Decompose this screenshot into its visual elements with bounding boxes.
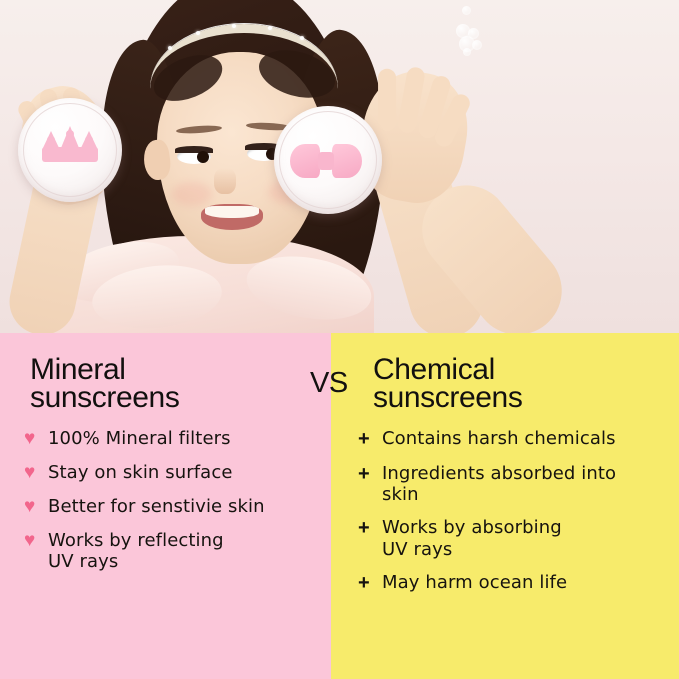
product-photo (0, 0, 679, 334)
sunscreen-comparison-infographic: Mineral sunscreens ♥ 100% Mineral filter… (0, 0, 679, 679)
heart-icon: ♥ (24, 462, 48, 484)
nose (214, 168, 236, 194)
teeth (205, 206, 259, 218)
sparkle-icon (268, 26, 272, 30)
list-item: + Ingredients absorbed into skin (358, 463, 676, 505)
plus-icon: + (358, 517, 382, 540)
crown-jewel (66, 130, 74, 138)
heart-icon: ♥ (24, 496, 48, 518)
pupil-left (197, 151, 209, 163)
list-item: + May harm ocean life (358, 572, 676, 595)
list-item: ♥ Works by reflecting UV rays (24, 530, 329, 572)
crown-icon (42, 128, 98, 162)
sparkle-icon (196, 31, 200, 35)
crown-jewel (85, 136, 93, 144)
bow-compact (274, 106, 382, 214)
bubble-icon (472, 40, 482, 50)
list-item: + Contains harsh chemicals (358, 428, 676, 451)
sparkle-icon (232, 24, 236, 28)
list-item: ♥ Better for senstivie skin (24, 496, 329, 518)
list-item: ♥ 100% Mineral filters (24, 428, 329, 450)
heart-icon: ♥ (24, 530, 48, 552)
bullet-text: Contains harsh chemicals (382, 428, 616, 449)
bullet-text: Works by reflecting UV rays (48, 530, 224, 572)
plus-icon: + (358, 572, 382, 595)
panel-mineral: Mineral sunscreens ♥ 100% Mineral filter… (0, 333, 331, 679)
bullet-text: Ingredients absorbed into skin (382, 463, 616, 505)
plus-icon: + (358, 428, 382, 451)
sparkle-icon (168, 46, 172, 50)
list-item: ♥ Stay on skin surface (24, 462, 329, 484)
crown-jewel (47, 136, 55, 144)
bullet-text: May harm ocean life (382, 572, 567, 593)
mouth (201, 204, 263, 230)
bow-wing-left (290, 144, 320, 178)
bubble-icon (462, 6, 471, 15)
panel-title-chemical: Chemical sunscreens (373, 356, 522, 411)
cheek (172, 182, 212, 206)
bow-wing-right (332, 144, 362, 178)
bullet-text: Better for senstivie skin (48, 496, 265, 517)
panel-title-mineral: Mineral sunscreens (30, 356, 179, 411)
vs-label: VS (310, 367, 348, 400)
bow-knot (318, 152, 334, 170)
finger (378, 69, 396, 131)
plus-icon: + (358, 463, 382, 486)
panel-chemical: Chemical sunscreens + Contains harsh che… (331, 333, 679, 679)
bullet-list-mineral: ♥ 100% Mineral filters ♥ Stay on skin su… (24, 428, 329, 584)
bullet-text: Stay on skin surface (48, 462, 233, 483)
bullet-text: 100% Mineral filters (48, 428, 231, 449)
crown-compact (18, 98, 122, 202)
bullet-text: Works by absorbing UV rays (382, 517, 562, 559)
list-item: + Works by absorbing UV rays (358, 517, 676, 559)
heart-icon: ♥ (24, 428, 48, 450)
bullet-list-chemical: + Contains harsh chemicals + Ingredients… (358, 428, 676, 607)
bow-icon (290, 144, 362, 178)
sparkle-icon (300, 36, 304, 40)
bubble-icon (463, 48, 471, 56)
